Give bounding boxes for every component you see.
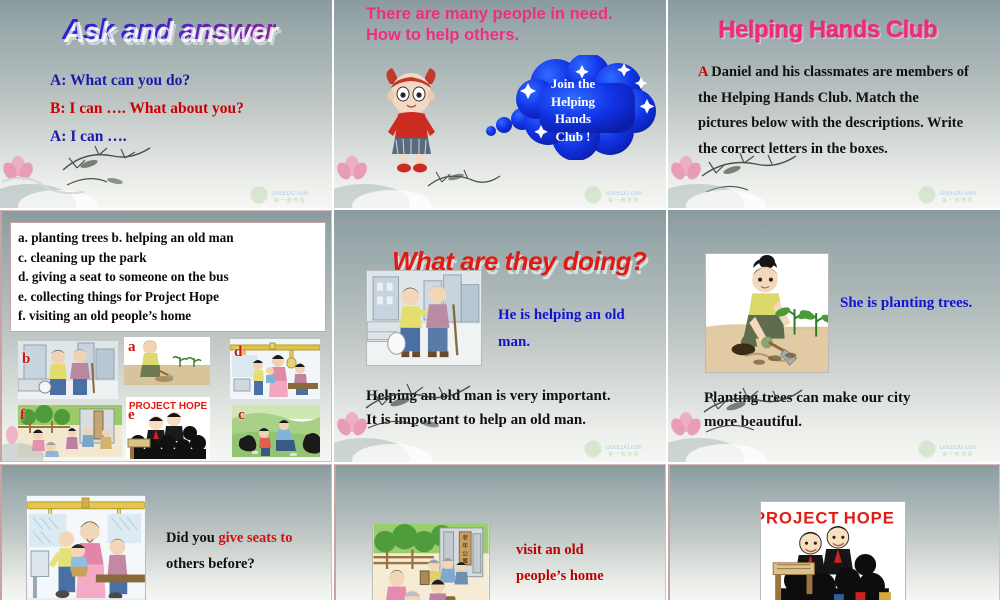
picture-caption: He is helping an old man. [498,302,648,356]
slide-matching-activity[interactable]: a. planting trees b. helping an old man … [0,210,332,462]
picture-a[interactable] [124,337,210,385]
bubble-line-3: Hands [518,110,628,128]
dialogue-line-1: A: What can you do? [50,72,190,90]
svg-text:第 一 教 育 网: 第 一 教 育 网 [274,197,305,204]
slide-caption: visit an old people’s home [516,537,604,589]
picture-old-peoples-home[interactable]: 老 年 公 寓 [372,523,490,600]
caption-post: others before? [166,556,255,572]
lotus-decor [0,142,120,208]
picture-label-d: d [234,344,242,361]
option-c: c. cleaning up the park [18,248,318,268]
option-ab: a. planting trees b. helping an old man [18,228,318,248]
bubble-line-4: Club ! [518,128,628,146]
heading-line-2: How to help others. [366,25,613,46]
picture-b[interactable] [18,341,118,399]
slide-visit-old-peoples-home[interactable]: 老 年 公 寓 [334,464,666,600]
svg-text:PROJECT HOPE: PROJECT HOPE [129,401,208,412]
bubble-line-1: Join the [518,75,628,93]
slide-project-hope[interactable]: PROJECT HOPE [668,464,1000,600]
caption-highlight: give seats to [218,530,292,546]
cartoon-girl-icon [376,62,452,174]
option-d: d. giving a seat to someone on the bus [18,267,318,287]
watermark-logo: DocEDU.com 第 一 教 育 网 [582,440,660,458]
exercise-marker: A [698,64,708,80]
slide-deck-grid: Ask and answer A: What can you do? B: I … [0,0,1000,600]
slide-title: Ask and answer [62,14,276,47]
watermark-logo: DocEDU.com 第 一 教 育 网 [916,440,994,458]
watermark-logo: DocEDU.com 第 一 教 育 网 [916,186,994,204]
picture-f[interactable] [18,405,122,457]
heading-line-1: There are many people in need. [366,4,613,25]
svg-text:老: 老 [461,534,468,542]
caption-line-1: visit an old [516,537,604,563]
picture-e[interactable]: PROJECT HOPE [126,397,210,459]
slide-helping-an-old-man[interactable]: What are they doing? [334,210,666,462]
svg-text:DocEDU.com: DocEDU.com [606,191,642,197]
svg-text:DocEDU.com: DocEDU.com [940,191,976,197]
ink-branch-decor [55,140,165,190]
picture-label-e: e [128,407,135,424]
svg-text:DocEDU.com: DocEDU.com [272,191,308,197]
slide-ask-and-answer[interactable]: Ask and answer A: What can you do? B: I … [0,0,332,208]
dialogue-line-3: A: I can …. [50,128,127,146]
picture-label-f: f [20,407,25,424]
svg-text:第 一 教 育 网: 第 一 教 育 网 [608,451,639,458]
slide-caption: Did you give seats to others before? [166,525,326,577]
slide-planting-trees[interactable]: She is planting trees. Planting trees ca… [668,210,1000,462]
picture-planting-trees[interactable] [705,253,829,373]
svg-text:PROJECT: PROJECT [761,509,839,528]
svg-text:DocEDU.com: DocEDU.com [940,445,976,451]
svg-text:第 一 教 育 网: 第 一 教 育 网 [942,451,973,458]
caption-pre: Did you [166,530,218,546]
slide-heading: There are many people in need. How to he… [366,4,613,46]
slide-people-in-need[interactable]: There are many people in need. How to he… [334,0,666,208]
options-list: a. planting trees b. helping an old man … [10,222,326,332]
slide-title: Helping Hands Club [718,16,937,44]
slide-helping-hands-club[interactable]: Helping Hands Club A Daniel and his clas… [668,0,1000,208]
slide-footer: Helping an old man is very important. It… [366,384,611,432]
thought-bubble-text: Join the Helping Hands Club ! [518,75,628,145]
footer-line-2: It is important to help an old man. [366,408,611,432]
svg-text:年: 年 [462,541,468,549]
picture-project-hope[interactable]: PROJECT HOPE [760,501,906,600]
watermark-logo: DocEDU.com 第 一 教 育 网 [582,186,660,204]
slide-footer: Planting trees can make our city more be… [704,386,911,434]
dialogue-line-2: B: I can …. What about you? [50,100,244,118]
caption-line-2: people’s home [516,563,604,589]
svg-text:HOPE: HOPE [844,509,895,528]
svg-text:第 一 教 育 网: 第 一 教 育 网 [608,197,639,204]
picture-bus-give-seat[interactable] [26,495,146,600]
picture-label-b: b [22,351,30,368]
picture-helping-old-man[interactable] [366,270,482,366]
picture-d[interactable] [230,339,320,399]
svg-text:第 一 教 育 网: 第 一 教 育 网 [942,197,973,204]
footer-line-1: Helping an old man is very important. [366,384,611,408]
slide-body: A Daniel and his classmates are members … [698,60,970,162]
option-e: e. collecting things for Project Hope [18,287,318,307]
slide-give-seats[interactable]: Did you give seats to others before? [0,464,332,600]
footer-line-1: Planting trees can make our city [704,386,911,410]
picture-caption: She is planting trees. [840,290,980,317]
svg-text:公: 公 [462,550,468,557]
picture-label-a: a [128,339,136,356]
footer-line-2: more beautiful. [704,410,911,434]
svg-text:DocEDU.com: DocEDU.com [606,445,642,451]
option-f: f. visiting an old people’s home [18,306,318,326]
bubble-line-2: Helping [518,93,628,111]
watermark-logo: DocEDU.com 第 一 教 育 网 [248,186,326,204]
exercise-instructions: Daniel and his classmates are members of… [698,64,969,157]
picture-c[interactable] [232,405,320,457]
picture-label-c: c [238,407,245,424]
